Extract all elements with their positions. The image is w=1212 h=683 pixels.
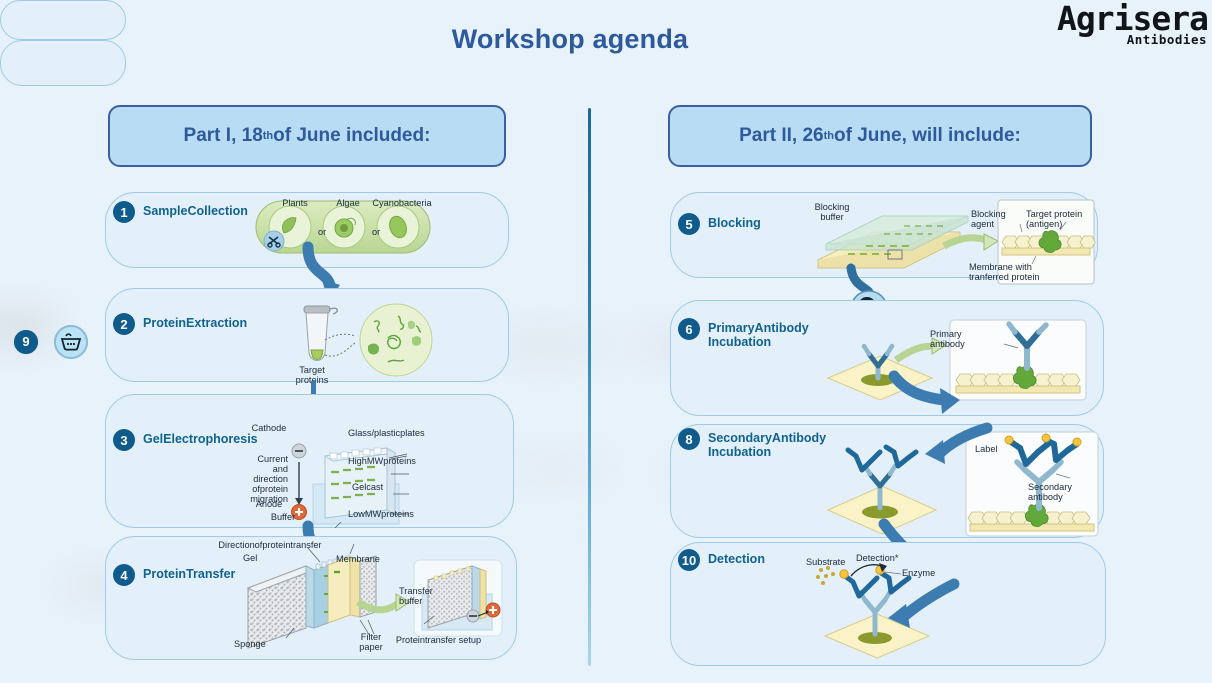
step-9-badge: 9 — [14, 330, 38, 354]
wash-basin-icon — [54, 325, 88, 359]
step-card-wash-9[interactable]: 9 — [0, 40, 126, 86]
wash-9-row: 9 — [0, 0, 1212, 683]
